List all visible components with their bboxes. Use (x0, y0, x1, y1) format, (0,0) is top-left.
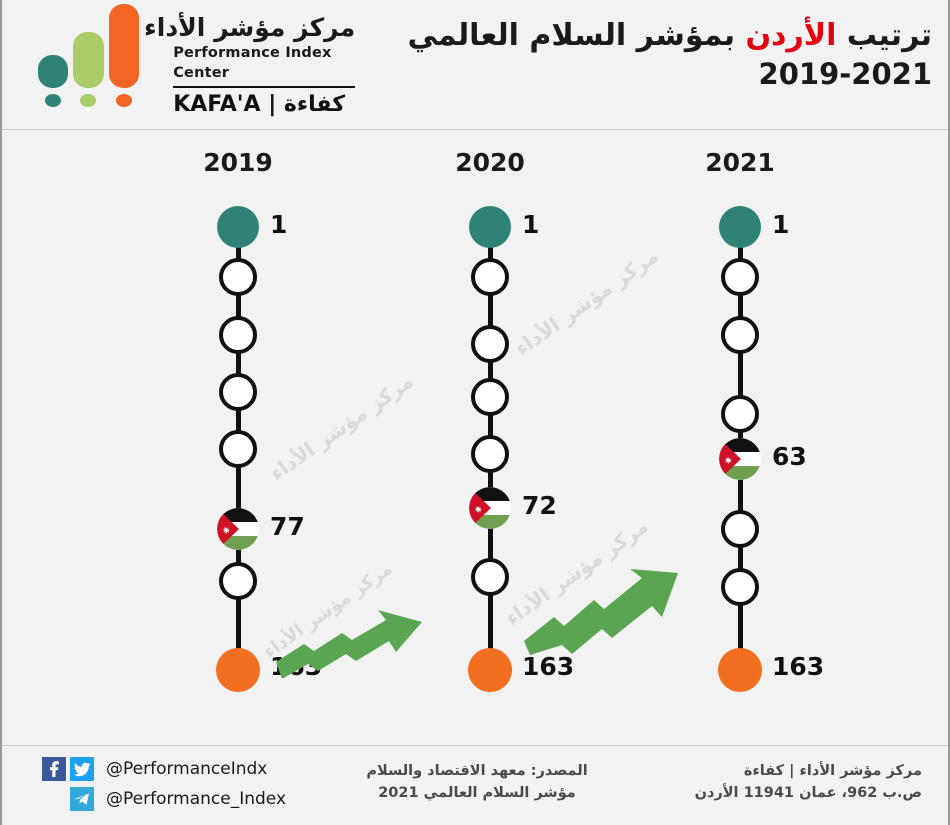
logo-bar-green (73, 32, 104, 88)
twitter-icon[interactable] (70, 757, 94, 781)
scale-bottom-node (718, 648, 762, 692)
social-spacer (42, 787, 66, 811)
chart-column-2019: 2019 1 77 (122, 130, 362, 730)
chart-column-2020: 2020 1 72 (374, 130, 614, 730)
scale-top-node (719, 206, 761, 248)
logo-bars-icon (32, 16, 136, 116)
scale-top-value: 1 (522, 210, 539, 239)
scale-blank-node (471, 378, 509, 416)
scale-blank-node (219, 316, 257, 354)
social-handle-secondary[interactable]: @Performance_Index (106, 789, 286, 809)
scale-bottom-value: 163 (772, 652, 824, 681)
logo-brand: KAFA'A | كفاءة (173, 92, 355, 117)
logo-dot-teal (45, 94, 61, 107)
scale-top-node (469, 206, 511, 248)
year-label: 2020 (430, 148, 550, 177)
logo-bar-orange (109, 4, 139, 88)
scale-bottom-node (216, 648, 260, 692)
footer: @PerformanceIndx @Performance_Index المص… (2, 745, 950, 825)
page-title: ترتيب الأردن بمؤشر السلام العالمي 2019-2… (372, 16, 932, 94)
title-main: ترتيب الأردن بمؤشر السلام العالمي (372, 16, 932, 55)
jordan-flag-marker (217, 508, 259, 550)
scale-blank-node (471, 325, 509, 363)
title-highlight: الأردن (745, 18, 836, 53)
scale-top-value: 1 (270, 210, 287, 239)
source-line-1: المصدر: معهد الاقتصاد والسلام (332, 760, 622, 782)
scale-blank-node (471, 558, 509, 596)
scale-blank-node (219, 258, 257, 296)
scale-bottom-node (468, 648, 512, 692)
scale-blank-node (721, 258, 759, 296)
scale-blank-node (471, 258, 509, 296)
scale-bottom-value: 163 (522, 652, 574, 681)
scale-blank-node (721, 316, 759, 354)
jordan-flag-marker (719, 438, 761, 480)
facebook-icon[interactable] (42, 757, 66, 781)
source-line-2: مؤشر السلام العالمي 2021 (332, 782, 622, 804)
logo: مركز مؤشر الأداء Performance Index Cente… (32, 14, 355, 117)
jordan-flag-marker (469, 487, 511, 529)
logo-arabic-name: مركز مؤشر الأداء (144, 14, 355, 43)
telegram-icon[interactable] (70, 787, 94, 811)
social-row-secondary: @Performance_Index (42, 786, 286, 812)
scale-blank-node (721, 568, 759, 606)
scale-blank-node (721, 510, 759, 548)
rank-value: 77 (270, 512, 305, 541)
title-years: 2019-2021 (372, 55, 932, 94)
jordan-flag-icon (719, 438, 761, 480)
chart-area: 2019 1 77 (2, 130, 950, 730)
contact-line-1: مركز مؤشر الأداء | كفاءة (622, 760, 922, 782)
social-handle-primary[interactable]: @PerformanceIndx (106, 759, 267, 779)
logo-dot-orange (116, 94, 132, 107)
infographic-canvas: مركز مؤشر الأداء Performance Index Cente… (0, 0, 950, 825)
chart-column-2021: 2021 1 63 (624, 130, 864, 730)
scale-blank-node (219, 430, 257, 468)
source-credit: المصدر: معهد الاقتصاد والسلام مؤشر السلا… (332, 760, 622, 805)
year-label: 2019 (178, 148, 298, 177)
contact-info: مركز مؤشر الأداء | كفاءة ص.ب 962، عمان 1… (622, 760, 922, 805)
logo-bar-teal (38, 55, 68, 88)
scale-blank-node (219, 562, 257, 600)
scale-bottom-value: 163 (270, 652, 322, 681)
jordan-flag-icon (469, 487, 511, 529)
title-prefix: ترتيب (836, 18, 932, 53)
rank-value: 72 (522, 491, 557, 520)
social-row-primary: @PerformanceIndx (42, 756, 286, 782)
contact-line-2: ص.ب 962، عمان 11941 الأردن (622, 782, 922, 804)
scale-blank-node (471, 435, 509, 473)
scale-blank-node (721, 395, 759, 433)
header: مركز مؤشر الأداء Performance Index Cente… (2, 0, 950, 130)
year-label: 2021 (680, 148, 800, 177)
scale-top-node (217, 206, 259, 248)
scale-blank-node (219, 373, 257, 411)
rank-value: 63 (772, 442, 807, 471)
logo-text: مركز مؤشر الأداء Performance Index Cente… (144, 14, 355, 117)
social-links: @PerformanceIndx @Performance_Index (42, 756, 286, 816)
title-suffix: بمؤشر السلام العالمي (407, 18, 745, 53)
jordan-flag-icon (217, 508, 259, 550)
logo-english-name: Performance Index Center (173, 43, 355, 89)
logo-dot-green (80, 94, 96, 107)
scale-top-value: 1 (772, 210, 789, 239)
